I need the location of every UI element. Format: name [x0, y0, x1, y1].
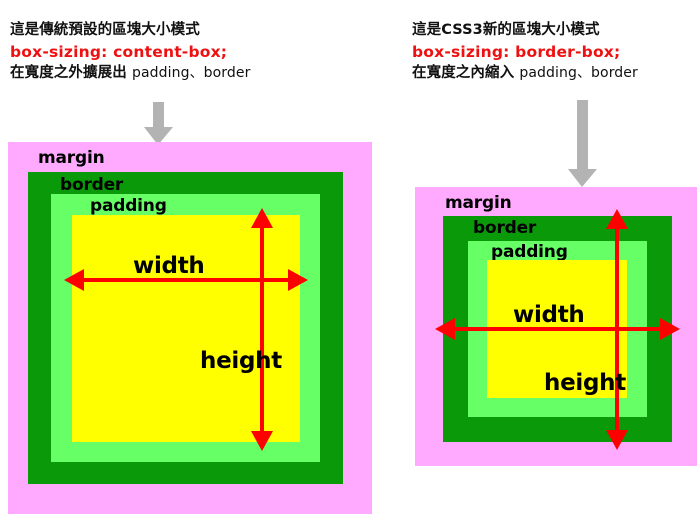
arrow-down-icon [144, 102, 173, 145]
caption-border-box: 這是CSS3新的區塊大小模式 box-sizing: border-box; 在… [412, 20, 638, 83]
caption-right-line-3-latin: padding、border [519, 65, 638, 81]
padding-label: padding [491, 242, 568, 262]
caption-left-line-3: 在寬度之外擴展出 padding、border [10, 63, 250, 84]
caption-content-box: 這是傳統預設的區塊大小模式 box-sizing: content-box; 在… [10, 20, 250, 83]
height-label: height [200, 348, 282, 374]
caption-right-line-1: 這是CSS3新的區塊大小模式 [412, 20, 638, 41]
border-label: border [473, 218, 536, 238]
caption-right-line-3-cjk: 在寬度之內縮入 [412, 65, 514, 81]
arrow-head-bottom [251, 431, 273, 451]
caption-left-line-3-cjk: 在寬度之外擴展出 [10, 65, 127, 81]
arrow-shaft [577, 100, 588, 170]
arrow-shaft [153, 102, 164, 128]
arrow-head-bottom [606, 430, 628, 450]
margin-label: margin [445, 193, 511, 213]
height-label: height [544, 370, 626, 396]
arrow-down-icon [568, 100, 597, 188]
width-label: width [513, 302, 584, 328]
margin-label: margin [38, 148, 104, 168]
box-model-diagram-border-box: margin border padding width height [415, 187, 697, 466]
height-measure-arrow [603, 209, 631, 450]
arrow-head-right [660, 318, 680, 340]
arrow-head-top [606, 209, 628, 229]
height-measure-arrow [248, 208, 276, 451]
arrow-head-top [251, 208, 273, 228]
arrow-shaft [615, 218, 619, 441]
padding-label: padding [90, 196, 167, 216]
box-model-diagram-content-box: margin border padding width height [8, 142, 372, 514]
caption-left-line-3-latin: padding、border [132, 65, 251, 81]
arrow-head-right [288, 269, 308, 291]
caption-right-line-3: 在寬度之內縮入 padding、border [412, 63, 638, 84]
arrow-head [568, 169, 597, 187]
width-label: width [133, 253, 204, 279]
arrow-shaft [260, 217, 264, 442]
caption-left-line-1: 這是傳統預設的區塊大小模式 [10, 20, 250, 41]
caption-right-code: box-sizing: border-box; [412, 41, 638, 63]
caption-left-code: box-sizing: content-box; [10, 41, 250, 63]
border-label: border [60, 175, 123, 195]
arrow-head-left [435, 318, 455, 340]
arrow-head-left [64, 269, 84, 291]
